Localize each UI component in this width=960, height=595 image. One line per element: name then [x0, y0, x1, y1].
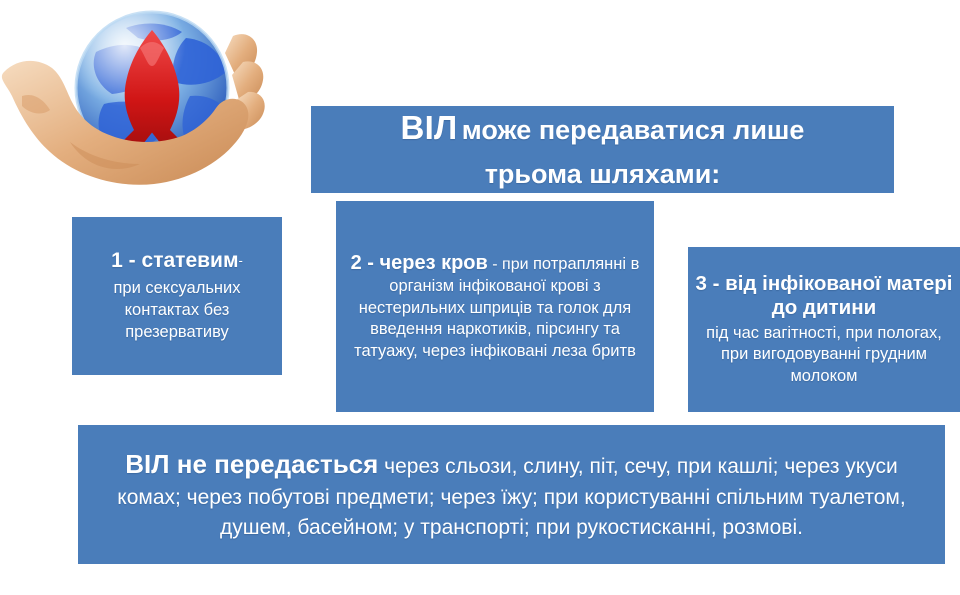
bottom-strong: ВІЛ не передається	[125, 449, 378, 479]
transmission-way-1-card: 1 - статевим- при сексуальних контактах …	[72, 217, 282, 375]
way-2-heading-tail: - при	[492, 256, 528, 273]
transmission-way-3-card: 3 - від інфікованої матері до дитини під…	[688, 247, 960, 412]
way-3-body: під час вагітності, при пологах, при виг…	[694, 323, 954, 387]
way-1-heading-dash: -	[238, 253, 242, 268]
header-banner: ВІЛ може передаватися лише трьома шляхам…	[311, 106, 894, 193]
way-2-content: 2 - через кров - при потраплянні в орган…	[344, 251, 646, 362]
way-1-heading-text: 1 - статевим	[111, 249, 238, 272]
bottom-text: ВІЛ не передається через сльози, слину, …	[97, 446, 927, 543]
hand-holding-globe-illustration	[0, 0, 300, 215]
way-2-heading: 2 - через кров	[351, 252, 488, 274]
header-line-1: ВІЛ може передаватися лише	[401, 107, 805, 149]
header-strong: ВІЛ	[401, 109, 458, 146]
poster-canvas: ВІЛ може передаватися лише трьома шляхам…	[0, 0, 960, 595]
way-1-heading: 1 - статевим-	[111, 248, 243, 275]
way-3-heading: 3 - від інфікованої матері до дитини	[694, 272, 954, 321]
transmission-way-2-card: 2 - через кров - при потраплянні в орган…	[336, 201, 654, 412]
header-rest: може передаватися лише	[462, 115, 805, 145]
way-1-body: при сексуальних контактах без презервати…	[82, 278, 272, 344]
header-line-2: трьома шляхами:	[485, 157, 721, 192]
non-transmission-banner: ВІЛ не передається через сльози, слину, …	[78, 425, 945, 564]
